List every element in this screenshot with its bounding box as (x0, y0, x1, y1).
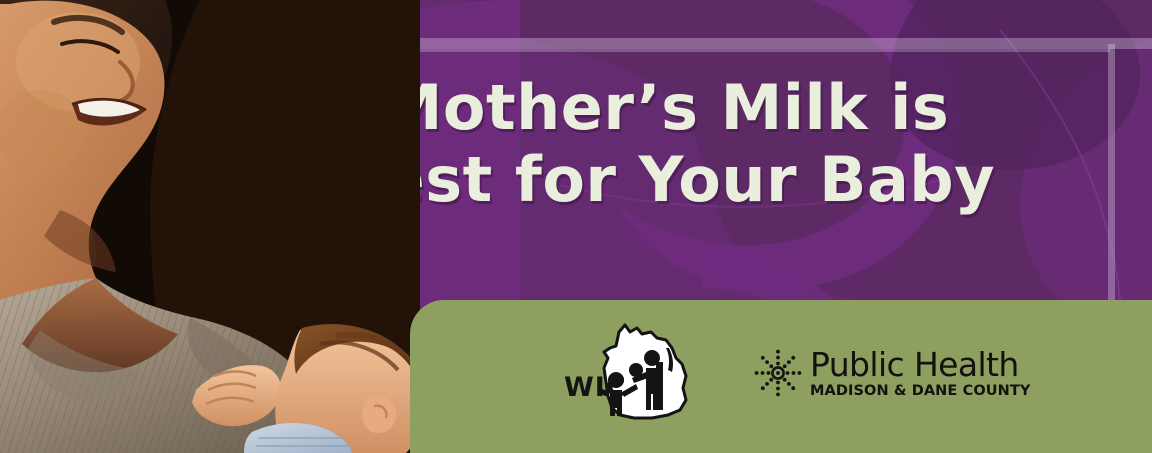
public-health-wordmark: Public Health MADISON & DANE COUNTY (810, 348, 1030, 399)
public-health-logo: Public Health MADISON & DANE COUNTY (752, 342, 984, 404)
mother-and-baby-photo (0, 0, 420, 453)
wic-wordmark: WIC (564, 372, 627, 403)
breastfeeding-promotion-banner: Mother’s Milk is Best for Your Baby (0, 0, 1152, 453)
radial-sunburst-dots-icon (752, 347, 804, 399)
public-health-subtitle: MADISON & DANE COUNTY (810, 384, 1030, 399)
public-health-title: Public Health (810, 348, 1019, 381)
frame-vertical-line (1108, 44, 1115, 300)
wic-logo-svg: WIC (556, 318, 706, 422)
sunburst-svg (752, 347, 804, 399)
child-figure-icon (629, 363, 643, 377)
photo-illustration (0, 0, 420, 453)
wic-logo: WIC (556, 318, 706, 422)
